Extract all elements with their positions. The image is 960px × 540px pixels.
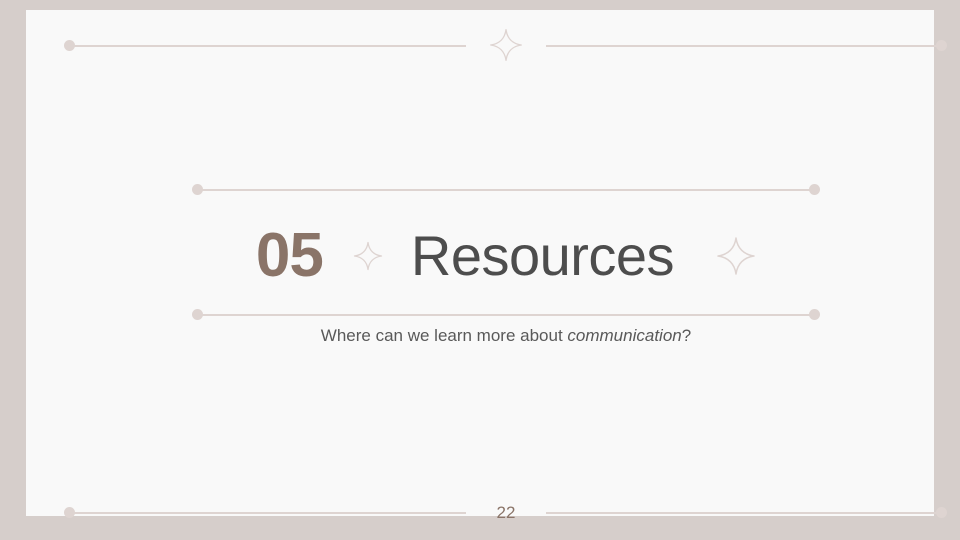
page-title: Resources — [411, 228, 674, 284]
top-rule-left-dot — [64, 40, 75, 51]
center-rule-top-right-dot — [809, 184, 820, 195]
subtitle-prefix: Where can we learn more about — [321, 326, 568, 345]
center-rule-bottom — [198, 314, 814, 316]
slide-panel: 05 Resources Where can we learn more abo… — [26, 10, 934, 516]
title-row: 05 Resources — [26, 206, 960, 306]
subtitle: Where can we learn more about communicat… — [26, 326, 960, 346]
section-number: 05 — [256, 225, 323, 287]
center-rule-bottom-right-dot — [809, 309, 820, 320]
sparkle-icon-top — [489, 28, 523, 62]
center-rule-bottom-left-dot — [192, 309, 203, 320]
subtitle-emphasis: communication — [567, 326, 681, 345]
top-rule-right — [546, 45, 941, 47]
top-rule-right-dot — [936, 40, 947, 51]
top-rule-left — [74, 45, 466, 47]
sparkle-icon-right — [716, 236, 756, 276]
center-rule-top — [198, 189, 814, 191]
sparkle-icon-small — [353, 241, 383, 271]
slide: 05 Resources Where can we learn more abo… — [0, 0, 960, 540]
center-rule-top-left-dot — [192, 184, 203, 195]
subtitle-suffix: ? — [682, 326, 691, 345]
page-number: 22 — [26, 503, 960, 523]
